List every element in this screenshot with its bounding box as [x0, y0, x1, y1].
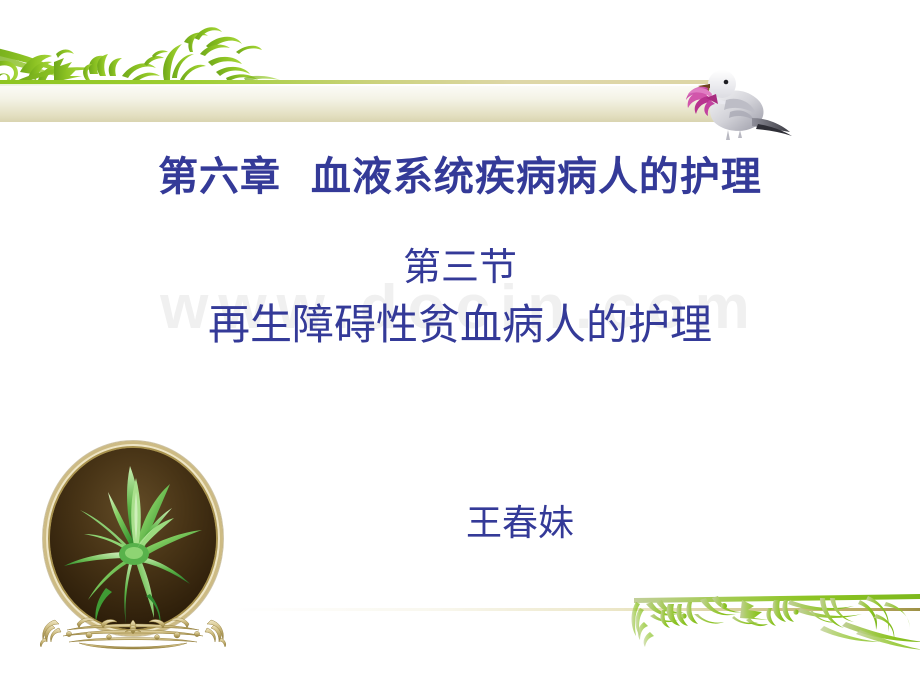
white-dove-with-pink-flower-icon	[686, 60, 804, 144]
gold-scroll-ornament-icon	[33, 602, 233, 650]
section-title: 第三节	[0, 248, 920, 288]
page-title: 第六章 血液系统疾病病人的护理	[0, 155, 920, 198]
author-name: 王春妹	[370, 494, 670, 546]
presentation-slide: www.docin.com 第六章 血液系统疾病病人的护理 第三节 再生障碍性贫…	[0, 0, 920, 690]
topic-title: 再生障碍性贫血病人的护理	[0, 303, 920, 347]
bottom-right-floral-icon	[624, 592, 920, 662]
plant-image-frame	[43, 441, 223, 636]
top-left-floral-icon	[0, 18, 284, 88]
top-banner	[0, 86, 716, 122]
